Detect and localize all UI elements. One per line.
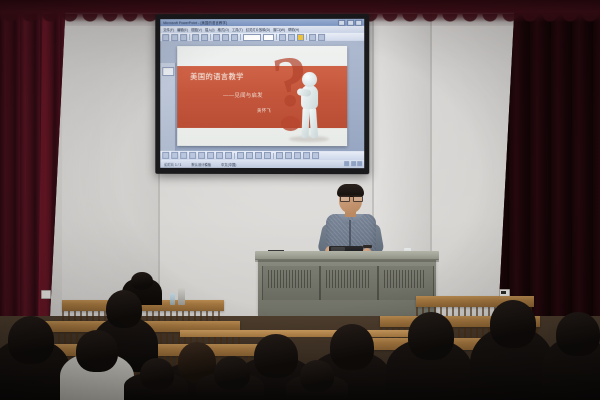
lectern-vents-3 [384, 270, 426, 288]
figure-head [302, 72, 317, 87]
diagram-icon[interactable] [246, 152, 253, 159]
font-size-combo[interactable] [263, 33, 274, 40]
audience-head-8 [490, 300, 536, 348]
menu-help[interactable]: 帮助(H) [288, 27, 299, 32]
wordart-icon[interactable] [237, 152, 244, 159]
bold-icon[interactable] [279, 33, 286, 40]
slide-thumbnail-1[interactable] [162, 67, 174, 76]
powerpoint-statusbar: 幻灯片 1 / 1 默认设计模板 中文(中国) [160, 160, 364, 168]
copy-icon[interactable] [222, 34, 229, 41]
audience-head-2 [106, 290, 142, 328]
textbox-icon[interactable] [225, 152, 232, 159]
3d-style-icon[interactable] [312, 152, 319, 159]
tray-icon-3[interactable] [357, 161, 362, 166]
toolbar-separator-3 [240, 34, 241, 40]
menu-format[interactable]: 格式(O) [218, 27, 229, 32]
current-slide[interactable]: ? 美国的语言教学 ——见闻与启发 黄怀飞 [177, 46, 347, 146]
slide-editing-area[interactable]: ? 美国的语言教学 ——见闻与启发 黄怀飞 [160, 41, 364, 151]
close-icon[interactable] [355, 19, 362, 25]
menu-file[interactable]: 文件(F) [163, 27, 174, 32]
clipart-icon[interactable] [255, 152, 262, 159]
toolbar-separator-4 [276, 34, 277, 40]
tray-icon-2[interactable] [351, 161, 356, 166]
drawbar-separator-2 [273, 153, 274, 159]
toolbar-separator-1 [189, 34, 190, 40]
slide-title-text: 美国的语言教学 [190, 72, 244, 82]
rectangle-icon[interactable] [207, 152, 214, 159]
window-controls[interactable] [338, 19, 364, 25]
audience-head-7 [408, 312, 454, 360]
line-icon[interactable] [189, 152, 196, 159]
audience-head-1 [8, 316, 54, 364]
minimize-icon[interactable] [338, 19, 345, 25]
draw-menu-icon[interactable] [162, 152, 169, 159]
tray-icon-1[interactable] [344, 161, 349, 166]
fill-color-icon[interactable] [276, 152, 283, 159]
lectern-edge-shadow [255, 259, 439, 262]
audience-head-9 [556, 312, 600, 356]
drawing-toolbar[interactable] [160, 151, 364, 160]
thermos-bottle [178, 288, 185, 305]
arrow-icon[interactable] [198, 152, 205, 159]
menu-insert[interactable]: 插入(I) [205, 27, 215, 32]
figure-arm [297, 88, 312, 97]
power-outlet-left [41, 290, 51, 299]
audience-head-11 [140, 358, 174, 390]
audience-head-6 [330, 324, 374, 370]
select-arrow-icon[interactable] [171, 152, 178, 159]
design-template-name: 默认设计模板 [191, 161, 211, 166]
menu-slideshow[interactable]: 幻灵灯片放映(D) [246, 27, 270, 32]
menu-edit[interactable]: 编辑(E) [177, 27, 188, 32]
font-name-combo[interactable] [243, 34, 261, 41]
drawbar-separator-1 [234, 152, 235, 158]
highlight-color-icon[interactable] [297, 33, 304, 40]
slide-counter: 幻灯片 1 / 1 [164, 161, 181, 166]
water-bottle-left [170, 293, 175, 305]
glasses-icon [340, 195, 361, 200]
toolbar-separator-5 [306, 34, 307, 40]
slide-author-text: 黄怀飞 [257, 108, 271, 114]
font-color-icon[interactable] [294, 152, 301, 159]
glasses-lens-left [340, 196, 350, 202]
audience-head-4 [254, 334, 298, 378]
autoshapes-icon[interactable] [180, 152, 187, 159]
slide-subtitle-text: ——见闻与启发 [223, 91, 263, 99]
projected-desktop: Microsoft PowerPoint - [美国的语言教学] 文件(F) 编… [160, 19, 364, 168]
toolbar-separator-2 [210, 34, 211, 40]
italic-icon[interactable] [288, 33, 295, 40]
menu-view[interactable]: 视图(V) [191, 27, 202, 32]
align-left-icon[interactable] [309, 33, 316, 40]
audience-head-10 [214, 356, 250, 390]
glasses-lens-right [353, 196, 363, 202]
restore-icon[interactable] [347, 19, 354, 25]
lecture-hall-photo: Microsoft PowerPoint - [美国的语言教学] 文件(F) 编… [0, 0, 600, 400]
projection-screen: Microsoft PowerPoint - [美国的语言教学] 文件(F) 编… [155, 14, 369, 174]
lectern-vents-2 [326, 270, 370, 288]
spellcheck-icon[interactable] [201, 34, 208, 41]
print-icon[interactable] [192, 34, 199, 41]
menu-tools[interactable]: 工具(T) [232, 27, 243, 32]
line-color-icon[interactable] [285, 152, 292, 159]
menu-window[interactable]: 窗口(W) [273, 27, 285, 32]
picture-icon[interactable] [264, 152, 271, 159]
audience-head-3 [76, 330, 118, 372]
seated-person-center-head [131, 272, 153, 290]
shadow-style-icon[interactable] [303, 152, 310, 159]
open-file-icon[interactable] [171, 34, 178, 41]
new-file-icon[interactable] [162, 34, 169, 41]
taskbar-tray[interactable] [344, 161, 362, 166]
language-indicator: 中文(中国) [221, 161, 236, 166]
figure-leg-right [309, 107, 318, 138]
cut-icon[interactable] [213, 34, 220, 41]
align-center-icon[interactable] [318, 33, 325, 40]
lectern [258, 258, 436, 316]
paste-icon[interactable] [231, 34, 238, 41]
save-icon[interactable] [180, 34, 187, 41]
oval-icon[interactable] [216, 152, 223, 159]
3d-person-figure [295, 72, 325, 140]
bench-rail-front [180, 330, 410, 337]
power-outlet-right-socket [501, 291, 506, 294]
powerpoint-toolbar[interactable] [160, 33, 364, 41]
audience-head-12 [300, 360, 334, 392]
lectern-vents-1 [268, 270, 312, 288]
window-title: Microsoft PowerPoint - [美国的语言教学] [160, 20, 227, 25]
